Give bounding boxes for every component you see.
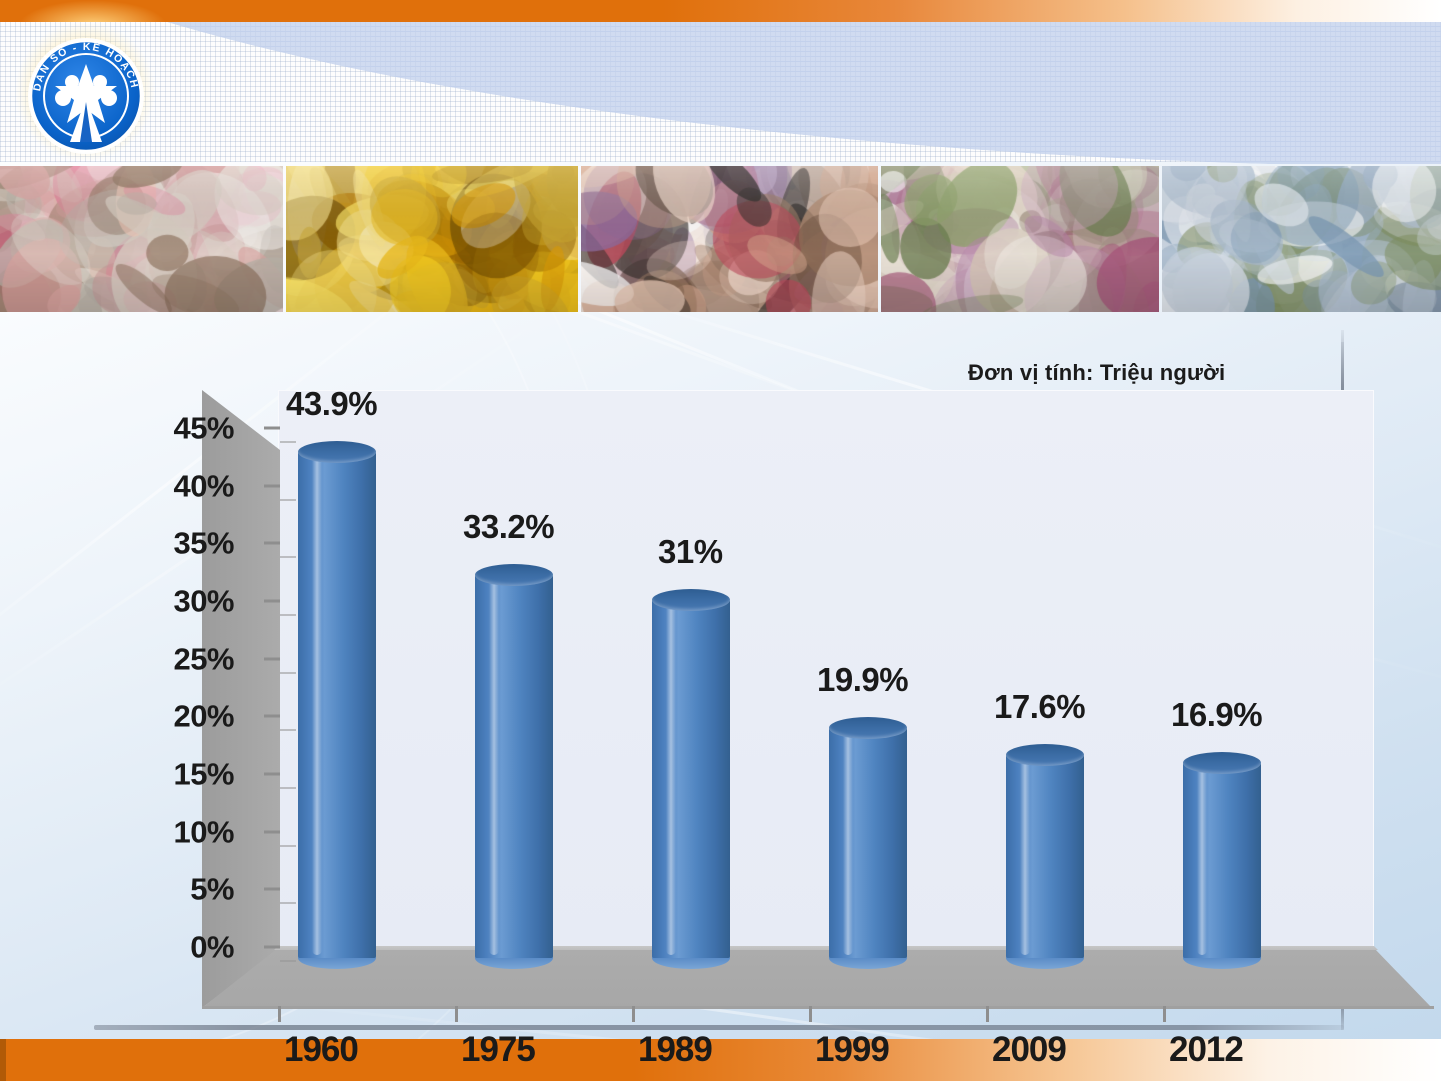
bar-2012 — [1183, 752, 1261, 969]
top-orange-band — [0, 0, 1441, 22]
population-bar-chart: 0%5%10%15%20%25%30%35%40%45% 43.9%196033… — [82, 330, 1344, 1020]
x-axis-tick — [986, 1006, 989, 1022]
x-axis-tick — [455, 1006, 458, 1022]
bar-value-label: 17.6% — [994, 688, 1085, 726]
slide-canvas: DÂN SỐ - KẾ HOẠCH HOÁ GIA ĐÌNH 0%5% — [0, 0, 1441, 1081]
bar-body — [1006, 755, 1084, 958]
x-axis-label: 2009 — [992, 1030, 1066, 1070]
band-edge-cap — [0, 1039, 6, 1081]
organization-logo: DÂN SỐ - KẾ HOẠCH HOÁ GIA ĐÌNH — [12, 24, 158, 164]
bar-1989 — [652, 589, 730, 969]
bar-value-label: 16.9% — [1171, 696, 1262, 734]
x-axis-tick — [632, 1006, 635, 1022]
bar-1960 — [298, 441, 376, 969]
bar-value-label: 33.2% — [463, 508, 554, 546]
photo-health-counseling — [0, 166, 283, 312]
bar-2009 — [1006, 744, 1084, 969]
bar-highlight — [1197, 766, 1207, 955]
header-blue-swoosh — [120, 22, 1441, 164]
photo-family — [581, 166, 878, 312]
bar-body — [475, 575, 553, 958]
photo-ethnic-minority-women — [881, 166, 1159, 312]
bar-highlight — [666, 603, 676, 955]
bar-series: 43.9%196033.2%197531%198919.9%199917.6%2… — [82, 330, 1344, 1020]
x-axis-tick — [809, 1006, 812, 1022]
bar-highlight — [312, 455, 322, 955]
x-axis-label: 1960 — [284, 1030, 358, 1070]
photo-banner — [0, 166, 1441, 312]
x-axis-label: 1975 — [461, 1030, 535, 1070]
bar-body — [1183, 763, 1261, 958]
bar-body — [298, 452, 376, 958]
x-axis-tick — [278, 1006, 281, 1022]
photo-yellow-ceremony — [286, 166, 578, 312]
bar-top-cap — [1006, 744, 1084, 766]
bar-body — [652, 600, 730, 958]
band-glow — [18, 0, 168, 22]
bar-top-cap — [1183, 752, 1261, 774]
logo-icon: DÂN SỐ - KẾ HOẠCH HOÁ GIA ĐÌNH — [20, 30, 152, 160]
bar-top-cap — [298, 441, 376, 463]
x-axis-label: 2012 — [1169, 1030, 1243, 1070]
bar-top-cap — [475, 564, 553, 586]
bar-value-label: 19.9% — [817, 661, 908, 699]
bar-value-label: 31% — [658, 533, 723, 571]
x-axis-label: 1989 — [638, 1030, 712, 1070]
bar-highlight — [843, 731, 853, 955]
x-axis-label: 1999 — [815, 1030, 889, 1070]
chart-unit-note: Đơn vị tính: Triệu người — [968, 360, 1225, 386]
bar-value-label: 43.9% — [286, 385, 377, 423]
bar-1975 — [475, 564, 553, 969]
x-axis-tick — [1163, 1006, 1166, 1022]
bar-highlight — [1020, 758, 1030, 955]
bar-highlight — [489, 578, 499, 955]
bar-body — [829, 728, 907, 958]
bar-1999 — [829, 717, 907, 969]
photo-parade — [1162, 166, 1441, 312]
